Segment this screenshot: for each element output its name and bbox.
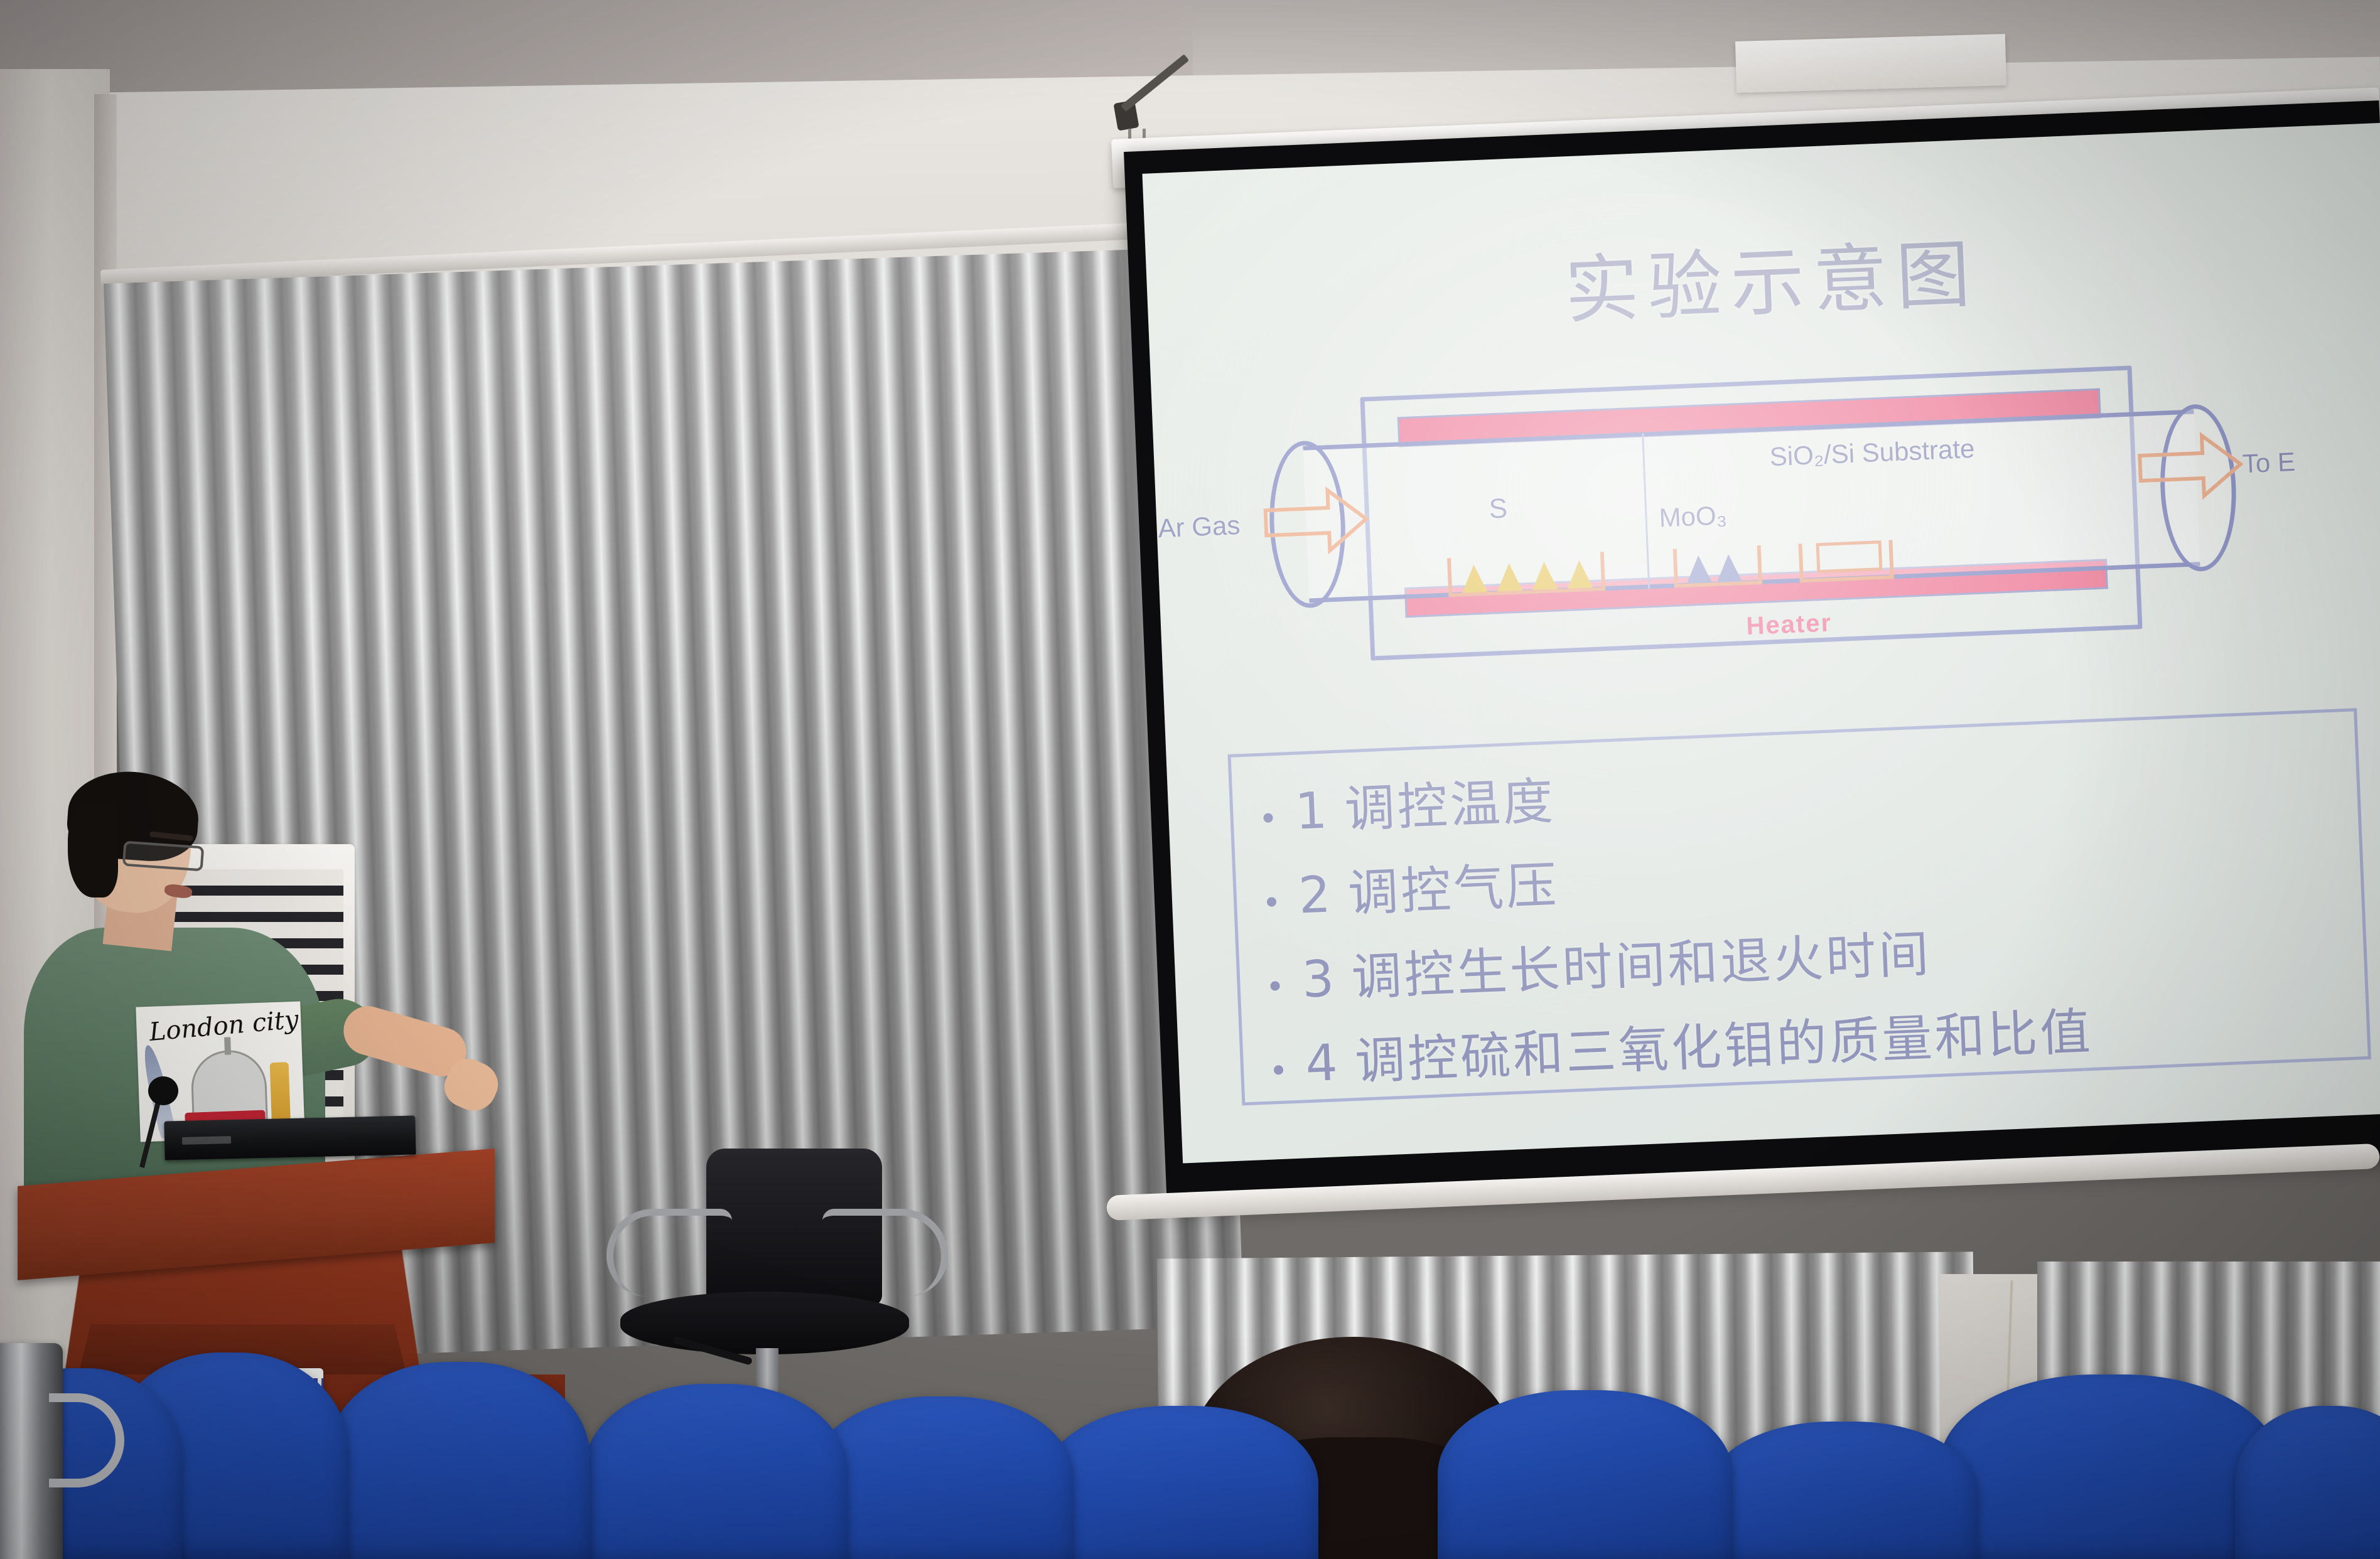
audience-seat (1940, 1374, 2279, 1559)
list-item: • 3 调控生长时间和退火时间 (1264, 913, 1932, 1013)
lectern-top (18, 1149, 495, 1280)
sulfur-label: S (1489, 493, 1508, 525)
presentation-slide: 实验示意图 Heater Ar Gas (1142, 122, 2380, 1163)
bullet-text: 调控生长时间和退火时间 (1350, 913, 1932, 1010)
audience-seat (326, 1362, 590, 1559)
lecture-hall-photo: MITSUBISHI 实验示意图 Heater (0, 0, 2380, 1559)
bullet-number: 3 (1301, 949, 1338, 1009)
cvd-furnace-diagram: Heater Ar Gas To E S MoO₃ SiO₂/Si Substr… (1189, 350, 2380, 687)
presenter-sideburn (68, 803, 118, 897)
silicon-wafer (1816, 540, 1882, 573)
chair-armrest-left (606, 1209, 732, 1297)
audience-seat (1438, 1390, 1733, 1559)
audience-seat (1708, 1422, 1978, 1559)
chair-seat (620, 1292, 909, 1354)
lamp-graphic (270, 1062, 291, 1123)
bullet-marker: • (1265, 970, 1288, 1004)
gas-outlet-arrow-icon (2136, 430, 2244, 502)
moo3-label: MoO₃ (1659, 500, 1728, 533)
bullet-list-box: • 1 调控温度 • 2 调控气压 • 3 调控生长时间和退火时间 • 4 (1228, 708, 2371, 1105)
bullet-number: 1 (1294, 781, 1331, 840)
moo3-boat (1673, 545, 1762, 588)
sulfur-boat (1447, 552, 1605, 597)
audience-seat (810, 1396, 1074, 1559)
list-item: • 1 调控温度 (1257, 761, 1557, 845)
laptop (164, 1115, 416, 1160)
audience-seat (584, 1384, 848, 1559)
bullet-marker: • (1268, 1054, 1291, 1088)
ar-gas-label: Ar Gas (1158, 510, 1241, 544)
bullet-number: 2 (1298, 865, 1335, 924)
bullet-marker: • (1258, 803, 1281, 836)
bullet-marker: • (1261, 887, 1284, 920)
audience-seat (1042, 1406, 1318, 1559)
bullet-text: 调控温度 (1343, 761, 1556, 842)
laptop-logo (182, 1136, 231, 1145)
list-item: • 2 调控气压 (1260, 845, 1560, 930)
ceiling-light-box (1735, 34, 2006, 93)
gas-inlet-arrow-icon (1262, 485, 1370, 557)
projection-screen: 实验示意图 Heater Ar Gas (1124, 100, 2380, 1206)
chair-armrest-right (822, 1209, 948, 1297)
bullet-number: 4 (1305, 1033, 1342, 1093)
slide-title: 实验示意图 (1145, 196, 2380, 355)
microphone-head (148, 1076, 178, 1105)
exhaust-label: To E (2242, 447, 2296, 479)
bullet-text: 调控硫和三氧化钼的质量和比值 (1354, 991, 2094, 1094)
substrate-boat (1799, 540, 1894, 582)
bullet-text: 调控气压 (1347, 845, 1560, 926)
